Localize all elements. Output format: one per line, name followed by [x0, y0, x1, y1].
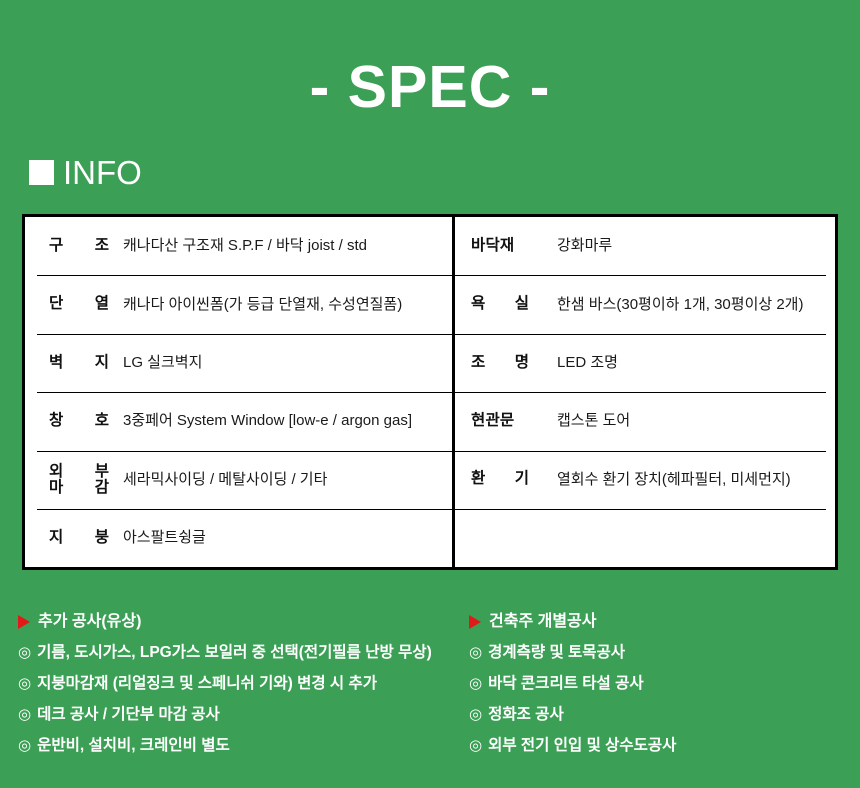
table-row: 창 호 3중페어 System Window [low-e / argon ga… — [25, 392, 452, 450]
table-row: 단 열 캐나다 아이씬폼(가 등급 단열재, 수성연질폼) — [25, 275, 452, 333]
table-row: 지 붕 아스팔트슁글 — [25, 509, 452, 567]
table-row: 욕 실 한샘 바스(30평이하 1개, 30평이상 2개) — [455, 275, 835, 333]
spec-table-left-column: 구 조 캐나다산 구조재 S.P.F / 바닥 joist / std 단 열 … — [25, 217, 455, 567]
table-row: 외 부 마 감 세라믹사이딩 / 메탈사이딩 / 기타 — [25, 451, 452, 509]
spec-key-char: 조 — [471, 355, 485, 372]
spec-value: 강화마루 — [557, 237, 612, 255]
spec-key: 창 호 — [49, 413, 123, 430]
spec-table: 구 조 캐나다산 구조재 S.P.F / 바닥 joist / std 단 열 … — [22, 214, 838, 570]
spec-value: 캡스톤 도어 — [557, 412, 630, 430]
spec-key-char: 실 — [515, 296, 529, 313]
list-item: ◎ 지붕마감재 (리얼징크 및 스페니쉬 기와) 변경 시 추가 — [18, 668, 455, 699]
spec-key-char: 지 — [49, 530, 63, 547]
spec-key-char: 외 — [49, 464, 63, 480]
list-item: ◎ 운반비, 설치비, 크레인비 별도 — [18, 730, 455, 761]
info-heading-label: INFO — [63, 156, 142, 189]
filled-square-icon — [29, 160, 54, 185]
spec-key-char: 창 — [49, 413, 63, 430]
list-item-label: 외부 전기 인입 및 상수도공사 — [488, 738, 676, 754]
spec-key: 조 명 — [471, 355, 543, 372]
spec-key-char: 환 — [471, 471, 485, 488]
list-item: ◎ 경계측량 및 토목공사 — [469, 637, 860, 668]
spec-info-page: { "theme": { "background": "#3ba055", "t… — [0, 0, 860, 788]
spec-key: 바닥재 — [471, 238, 543, 255]
list-item-label: 운반비, 설치비, 크레인비 별도 — [37, 738, 230, 754]
spec-key-char: 벽 — [49, 355, 63, 372]
list-item-label: 데크 공사 / 기단부 마감 공사 — [37, 707, 220, 723]
list-item: ◎ 정화조 공사 — [469, 699, 860, 730]
spec-value: 캐나다산 구조재 S.P.F / 바닥 joist / std — [123, 237, 367, 255]
spec-value: LG 실크벽지 — [123, 354, 202, 372]
spec-key-char: 명 — [515, 355, 529, 372]
list-item: ◎ 바닥 콘크리트 타설 공사 — [469, 668, 860, 699]
notes-right-heading-label: 건축주 개별공사 — [489, 614, 597, 630]
list-item-label: 경계측량 및 토목공사 — [488, 645, 625, 661]
spec-key-char: 호 — [95, 413, 109, 430]
list-item-label: 기름, 도시가스, LPG가스 보일러 중 선택(전기필름 난방 무상) — [37, 645, 432, 661]
spec-key-char: 조 — [95, 238, 109, 255]
spec-value: 3중페어 System Window [low-e / argon gas] — [123, 412, 412, 430]
page-title: - SPEC - — [0, 58, 860, 117]
table-row: 벽 지 LG 실크벽지 — [25, 334, 452, 392]
spec-value: LED 조명 — [557, 354, 618, 372]
spec-key: 외 부 마 감 — [49, 464, 123, 496]
info-heading: INFO — [29, 152, 142, 192]
notes-left-heading: 추가 공사(유상) — [18, 606, 455, 637]
table-row: 현관문 캡스톤 도어 — [455, 392, 835, 450]
double-circle-icon: ◎ — [18, 738, 31, 753]
spec-key: 벽 지 — [49, 355, 123, 372]
double-circle-icon: ◎ — [469, 738, 482, 753]
double-circle-icon: ◎ — [469, 676, 482, 691]
table-row: 바닥재 강화마루 — [455, 217, 835, 275]
red-triangle-icon — [469, 615, 481, 629]
spec-key-char: 붕 — [95, 530, 109, 547]
spec-key: 현관문 — [471, 413, 543, 430]
list-item-label: 바닥 콘크리트 타설 공사 — [488, 676, 644, 692]
notes-left-column: 추가 공사(유상) ◎ 기름, 도시가스, LPG가스 보일러 중 선택(전기필… — [0, 606, 455, 761]
list-item: ◎ 기름, 도시가스, LPG가스 보일러 중 선택(전기필름 난방 무상) — [18, 637, 455, 668]
spec-key-char: 기 — [515, 471, 529, 488]
spec-key-char: 열 — [95, 296, 109, 313]
spec-value: 캐나다 아이씬폼(가 등급 단열재, 수성연질폼) — [123, 296, 402, 314]
spec-key-char: 단 — [49, 296, 63, 313]
double-circle-icon: ◎ — [469, 707, 482, 722]
table-row-empty — [455, 509, 835, 567]
spec-value: 세라믹사이딩 / 메탈사이딩 / 기타 — [123, 471, 327, 489]
spec-key-char: 욕 — [471, 296, 485, 313]
double-circle-icon: ◎ — [18, 707, 31, 722]
spec-key: 환 기 — [471, 471, 543, 488]
spec-key: 지 붕 — [49, 530, 123, 547]
table-row: 조 명 LED 조명 — [455, 334, 835, 392]
notes-right-heading: 건축주 개별공사 — [469, 606, 860, 637]
spec-table-right-column: 바닥재 강화마루 욕 실 한샘 바스(30평이하 1개, 30평이상 2개) 조… — [455, 217, 835, 567]
spec-key: 단 열 — [49, 296, 123, 313]
spec-key-char: 지 — [95, 355, 109, 372]
spec-key-char: 감 — [95, 480, 109, 496]
table-row: 환 기 열회수 환기 장치(헤파필터, 미세먼지) — [455, 451, 835, 509]
notes-left-heading-label: 추가 공사(유상) — [38, 614, 141, 630]
spec-key-char: 마 — [49, 480, 63, 496]
spec-key: 욕 실 — [471, 296, 543, 313]
spec-key-line: 외 부 — [49, 464, 123, 480]
spec-key-line: 마 감 — [49, 480, 123, 496]
double-circle-icon: ◎ — [469, 645, 482, 660]
spec-value: 아스팔트슁글 — [123, 529, 206, 547]
spec-value: 한샘 바스(30평이하 1개, 30평이상 2개) — [557, 296, 803, 314]
red-triangle-icon — [18, 615, 30, 629]
double-circle-icon: ◎ — [18, 645, 31, 660]
notes-right-column: 건축주 개별공사 ◎ 경계측량 및 토목공사 ◎ 바닥 콘크리트 타설 공사 ◎… — [455, 606, 860, 761]
spec-key-char: 부 — [95, 464, 109, 480]
double-circle-icon: ◎ — [18, 676, 31, 691]
list-item: ◎ 외부 전기 인입 및 상수도공사 — [469, 730, 860, 761]
spec-key: 구 조 — [49, 238, 123, 255]
notes-section: 추가 공사(유상) ◎ 기름, 도시가스, LPG가스 보일러 중 선택(전기필… — [0, 606, 860, 761]
list-item-label: 지붕마감재 (리얼징크 및 스페니쉬 기와) 변경 시 추가 — [37, 676, 377, 692]
spec-value: 열회수 환기 장치(헤파필터, 미세먼지) — [557, 471, 791, 489]
list-item: ◎ 데크 공사 / 기단부 마감 공사 — [18, 699, 455, 730]
table-row: 구 조 캐나다산 구조재 S.P.F / 바닥 joist / std — [25, 217, 452, 275]
list-item-label: 정화조 공사 — [488, 707, 564, 723]
spec-key-char: 구 — [49, 238, 63, 255]
